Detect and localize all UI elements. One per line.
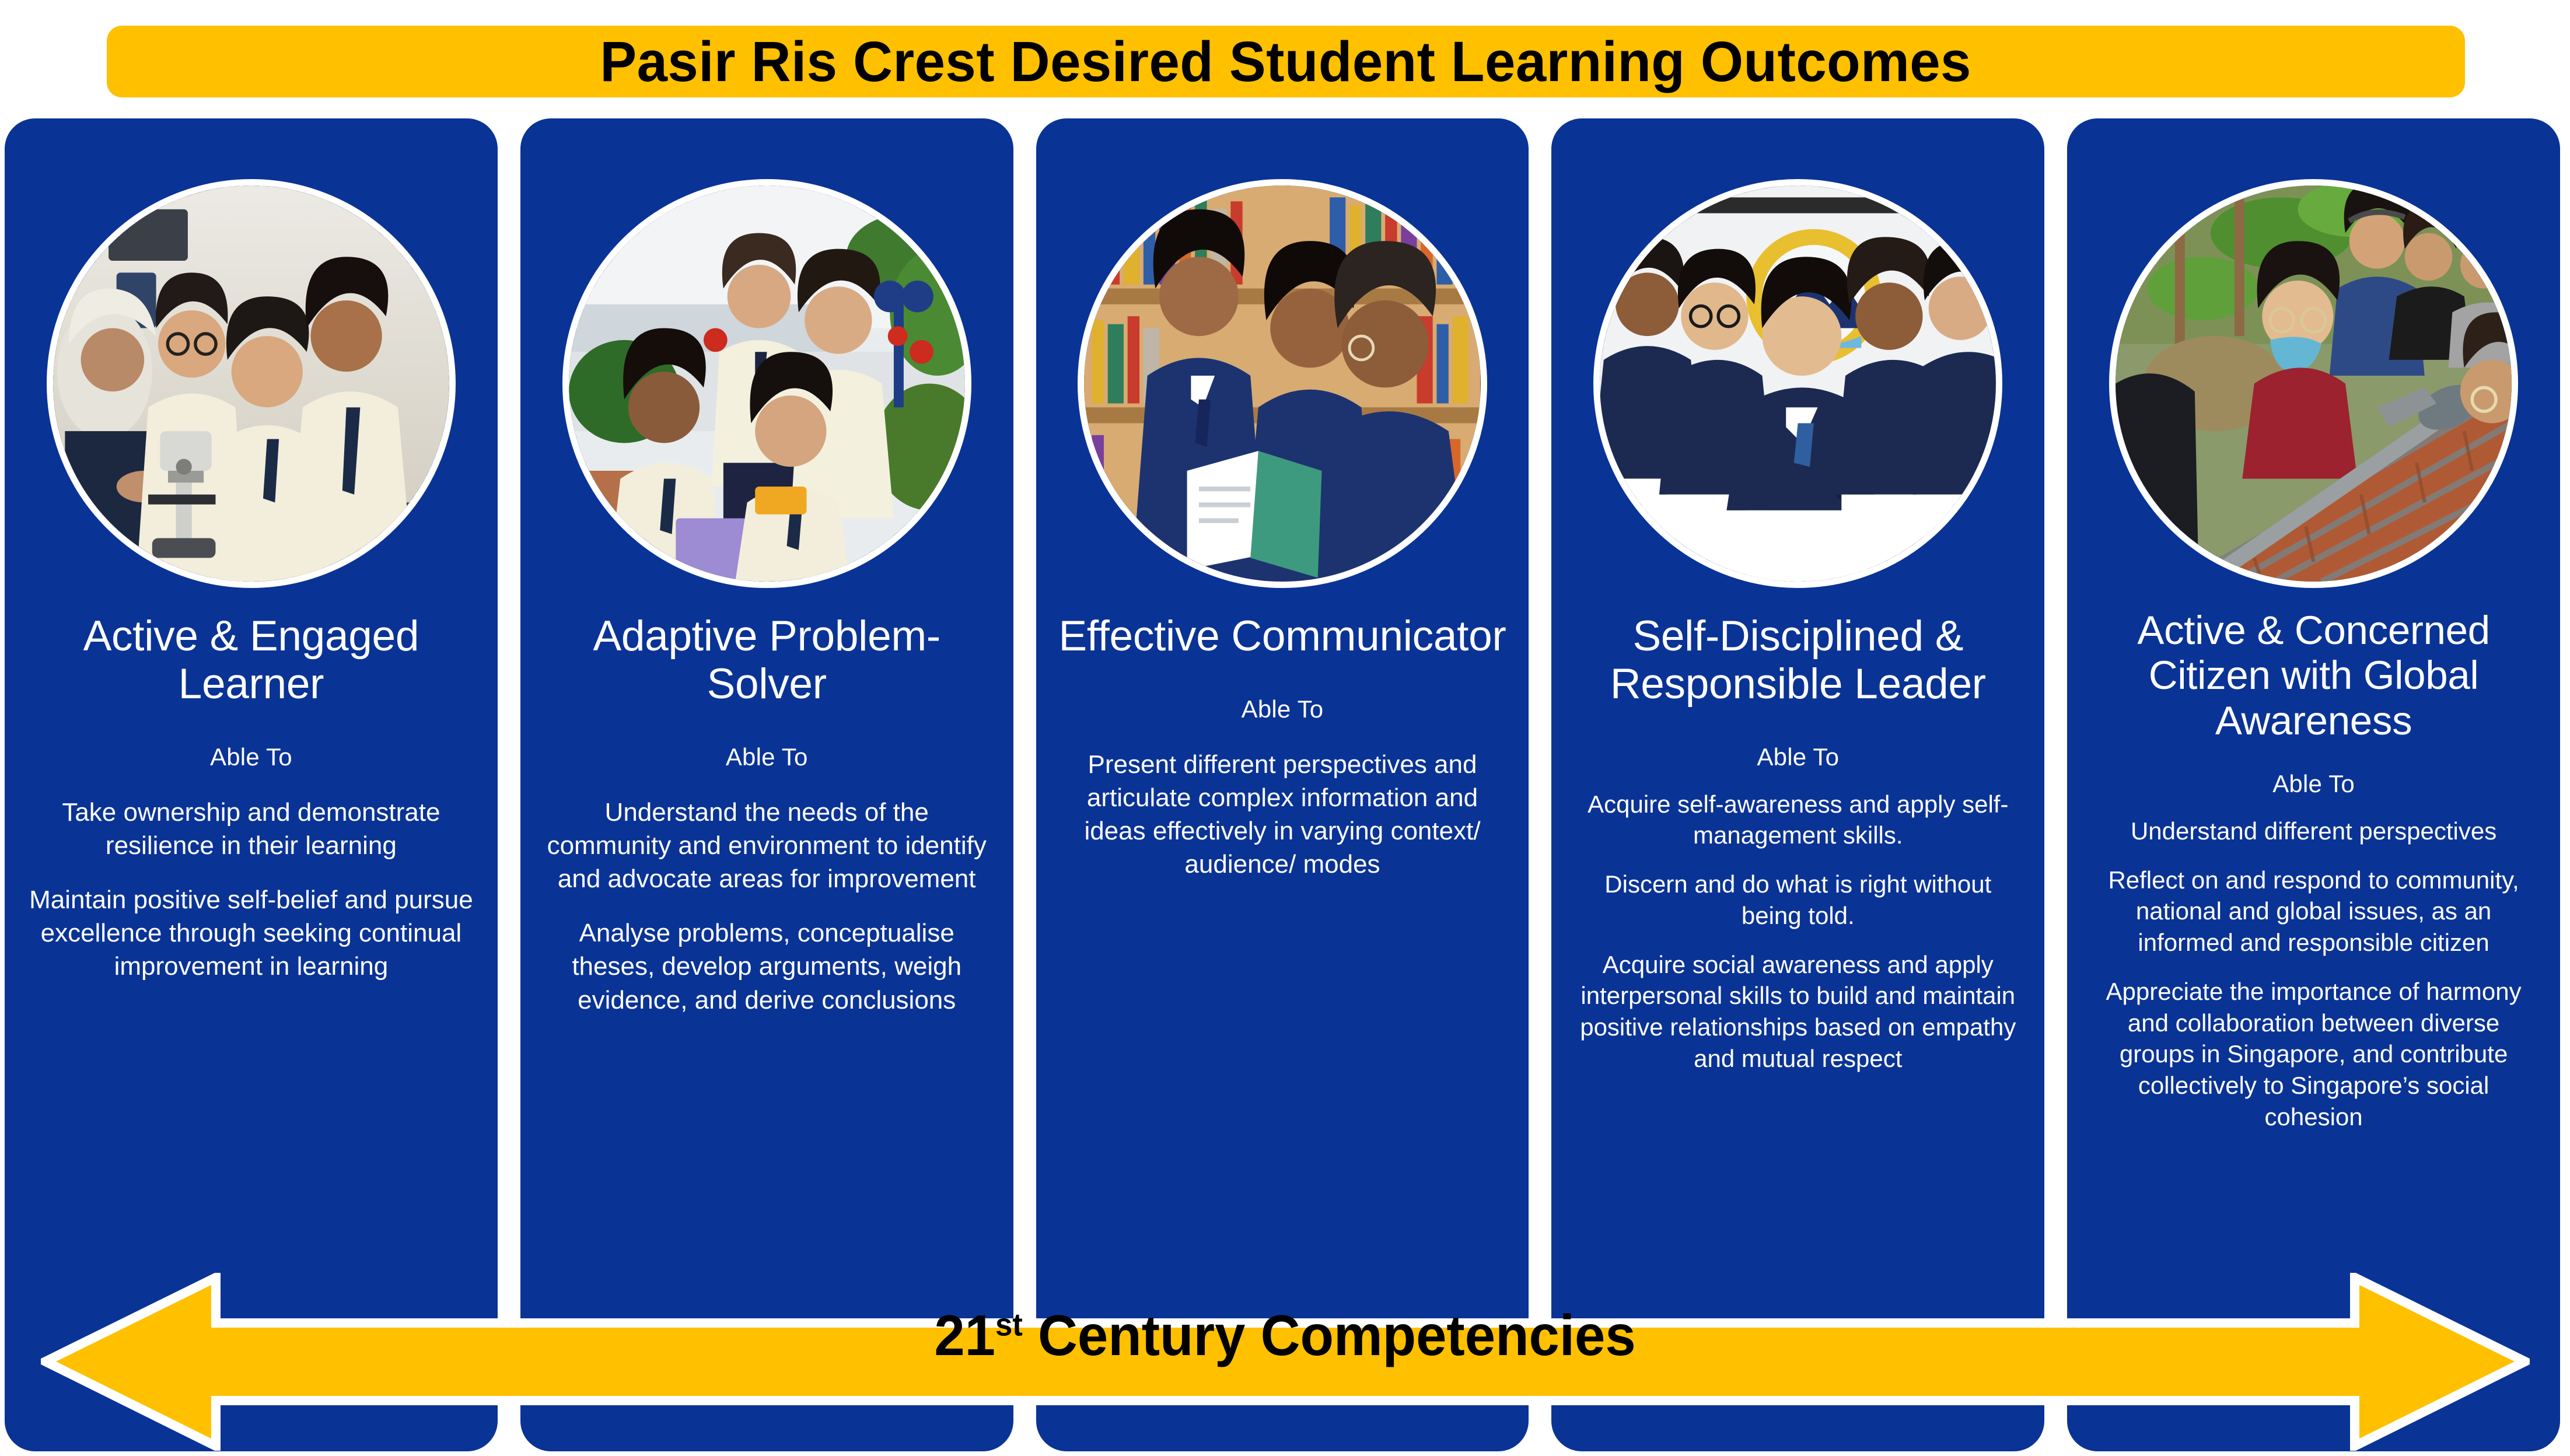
list-item: Present different perspectives and artic… [1061, 748, 1505, 881]
outcome-title: Active & Engaged Learner [5, 612, 498, 708]
able-to-label: Able To [210, 743, 292, 771]
outcome-title: Adaptive Problem-Solver [520, 612, 1013, 708]
able-to-label: Able To [2272, 770, 2355, 798]
able-to-label: Able To [1242, 695, 1324, 723]
competencies-label: 21st Century Competencies [51, 1307, 2519, 1364]
outcome-card-adaptive-problem-solver[interactable]: Adaptive Problem-Solver Able To Understa… [520, 118, 1013, 1451]
outcome-card-active-concerned-citizen[interactable]: Active & Concerned Citizen with Global A… [2067, 118, 2560, 1451]
outcome-bullets: Understand different perspectives Reflec… [2067, 815, 2560, 1150]
students-bricklaying-community-service-photo [2109, 179, 2518, 588]
student-leaders-in-blazers-photo [1593, 179, 2002, 588]
list-item: Acquire self-awareness and apply self-ma… [1576, 789, 2020, 852]
competencies-ordinal-suffix: st [995, 1306, 1023, 1342]
able-to-label: Able To [726, 743, 808, 771]
outcome-card-effective-communicator[interactable]: Effective Communicator Able To Present d… [1036, 118, 1529, 1451]
students-reading-book-in-library-photo [1078, 179, 1487, 588]
outcome-card-self-disciplined-responsible-leader[interactable]: Self-Disciplined & Responsible Leader Ab… [1551, 118, 2044, 1451]
outcome-bullets: Present different perspectives and artic… [1036, 748, 1529, 881]
list-item: Discern and do what is right without bei… [1576, 869, 2020, 932]
outcome-title: Effective Communicator [1045, 612, 1520, 660]
outcome-card-active-engaged-learner[interactable]: Active & Engaged Learner Able To Take ow… [5, 118, 498, 1451]
outcome-bullets: Understand the needs of the community an… [520, 796, 1013, 1017]
list-item: Analyse problems, conceptualise theses, … [545, 916, 989, 1017]
list-item: Maintain positive self-belief and pursue… [29, 883, 473, 984]
list-item: Acquire social awareness and apply inter… [1576, 949, 2020, 1074]
poster-root: Pasir Ris Crest Desired Student Learning… [0, 0, 2570, 1456]
list-item: Understand the needs of the community an… [545, 796, 989, 896]
outcomes-columns: Active & Engaged Learner Able To Take ow… [5, 118, 2560, 1451]
page-title: Pasir Ris Crest Desired Student Learning… [600, 33, 1972, 90]
outcome-title: Active & Concerned Citizen with Global A… [2067, 608, 2560, 743]
competencies-text: Century Competencies [1023, 1303, 1636, 1367]
poster-title-banner: Pasir Ris Crest Desired Student Learning… [107, 26, 2465, 97]
list-item: Reflect on and respond to community, nat… [2092, 864, 2536, 958]
list-item: Take ownership and demonstrate resilienc… [29, 796, 473, 862]
students-and-teacher-at-microscope-photo [47, 179, 456, 588]
outcome-bullets: Take ownership and demonstrate resilienc… [5, 796, 498, 984]
students-outdoor-project-work-photo [562, 179, 971, 588]
list-item: Appreciate the importance of harmony and… [2092, 976, 2536, 1133]
outcome-bullets: Acquire self-awareness and apply self-ma… [1551, 789, 2044, 1092]
able-to-label: Able To [1757, 743, 1839, 771]
list-item: Understand different perspectives [2092, 815, 2536, 847]
outcome-title: Self-Disciplined & Responsible Leader [1551, 612, 2044, 708]
competencies-number: 21 [934, 1303, 995, 1367]
